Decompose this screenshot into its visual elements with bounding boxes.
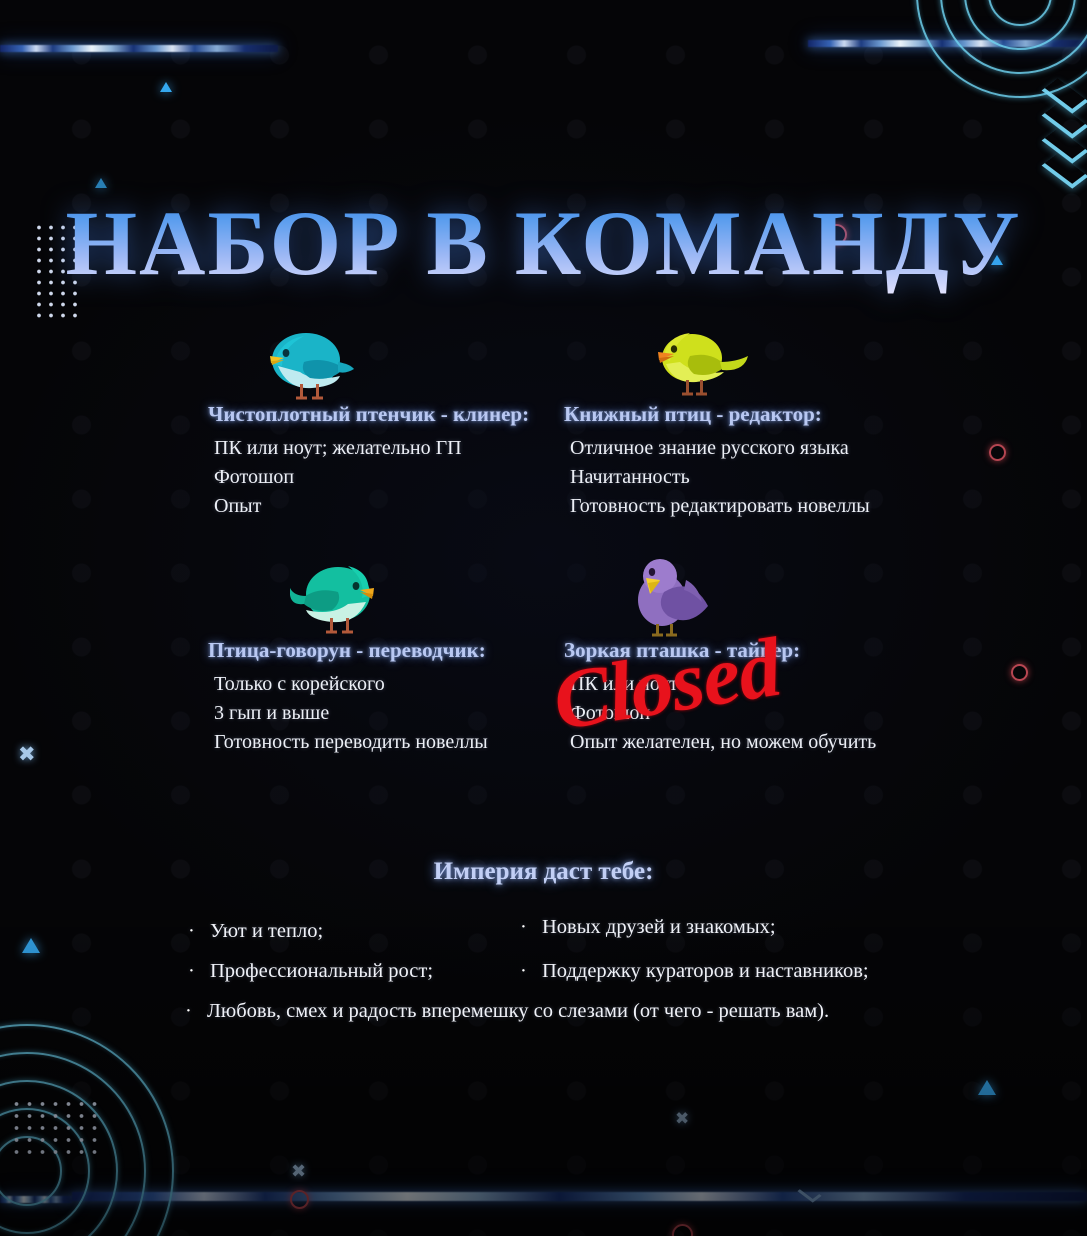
dot-grid-bottom-left: [10, 1098, 102, 1154]
bird-lime-icon: [556, 318, 936, 402]
requirement-item: ПК или ноут: [570, 670, 936, 699]
streak-bottom-main: [72, 1192, 1087, 1201]
job-card-typer[interactable]: Зоркая пташка - тайпер: ПК или ноут Фото…: [556, 554, 936, 757]
requirement-item: Опыт желателен, но можем обучить: [570, 728, 936, 757]
bird-purple-icon: [556, 554, 936, 638]
streak-top-left: [0, 45, 278, 52]
red-circle-icon-4: [290, 1190, 309, 1209]
streak-top-right: [808, 40, 1087, 47]
job-title: Чистоплотный птенчик - клинер:: [208, 402, 580, 427]
benefits-heading: Империя даст тебе:: [0, 858, 1087, 886]
bird-cyan-icon: [200, 318, 580, 402]
bird-teal-icon: [200, 554, 580, 638]
benefit-item: ·Новых друзей и знакомых;: [520, 916, 776, 939]
chevron-down-icon-stack: [1046, 86, 1084, 186]
requirement-item: Начитанность: [570, 463, 936, 492]
requirement-item: Отличное знание русского языка: [570, 434, 936, 463]
x-mark-icon-3: ✖: [291, 1163, 306, 1181]
benefit-label: Поддержку кураторов и наставников;: [542, 960, 869, 982]
job-listings: Чистоплотный птенчик - клинер: ПК или но…: [0, 318, 1087, 790]
job-requirements: Отличное знание русского языка Начитанно…: [556, 434, 936, 521]
job-title: Зоркая пташка - тайпер:: [564, 638, 936, 663]
red-circle-icon-5: [672, 1224, 693, 1236]
bullet-icon: ·: [188, 960, 210, 983]
job-card-cleaner[interactable]: Чистоплотный птенчик - клинер: ПК или но…: [200, 318, 580, 521]
requirement-item: Готовность переводить новеллы: [214, 728, 580, 757]
bullet-icon: ·: [520, 916, 542, 939]
benefit-item: ·Профессиональный рост;: [188, 960, 433, 983]
page-title: НАБОР В КОМАНДУ: [0, 190, 1087, 296]
triangle-icon-5: [978, 1080, 996, 1095]
benefits-row-3: ·Любовь, смех и радость вперемешку со сл…: [0, 1000, 1087, 1040]
chevron-down-icon-small: [797, 1184, 821, 1202]
bullet-icon: ·: [188, 920, 210, 943]
job-requirements: Только с корейского 3 гып и выше Готовно…: [200, 670, 580, 757]
bullet-icon: ·: [185, 1000, 207, 1023]
triangle-icon-1: [160, 82, 172, 92]
concentric-rings-icon: [930, 0, 1087, 84]
job-card-editor[interactable]: Книжный птиц - редактор: Отличное знание…: [556, 318, 936, 521]
benefits-row-1: ·Уют и тепло; ·Новых друзей и знакомых;: [0, 920, 1087, 960]
job-row-top: Чистоплотный птенчик - клинер: ПК или но…: [0, 318, 1087, 554]
benefit-label: Уют и тепло;: [210, 920, 323, 942]
benefit-label: Новых друзей и знакомых;: [542, 916, 776, 938]
job-requirements: ПК или ноут Фотошоп Опыт желателен, но м…: [556, 670, 936, 757]
job-title: Книжный птиц - редактор:: [564, 402, 936, 427]
benefit-item: ·Любовь, смех и радость вперемешку со сл…: [185, 1000, 829, 1023]
benefits-row-2: ·Профессиональный рост; ·Поддержку курат…: [0, 960, 1087, 1000]
requirement-item: Фотошоп: [214, 463, 580, 492]
requirement-item: Только с корейского: [214, 670, 580, 699]
benefit-label: Любовь, смех и радость вперемешку со сле…: [207, 1000, 829, 1022]
poster-canvas: ✖ ✖ ✖ НАБОР В КОМАНДУ: [0, 0, 1087, 1236]
triangle-icon-2: [95, 178, 107, 188]
benefit-label: Профессиональный рост;: [210, 960, 433, 982]
benefit-item: ·Поддержку кураторов и наставников;: [520, 960, 869, 983]
requirement-item: 3 гып и выше: [214, 699, 580, 728]
job-requirements: ПК или ноут; желательно ГП Фотошоп Опыт: [200, 434, 580, 521]
x-mark-icon-2: ✖: [675, 1111, 689, 1128]
benefits-list: ·Уют и тепло; ·Новых друзей и знакомых; …: [0, 920, 1087, 1040]
benefit-item: ·Уют и тепло;: [188, 920, 323, 943]
job-card-translator[interactable]: Птица-говорун - переводчик: Только с кор…: [200, 554, 580, 757]
bullet-icon: ·: [520, 960, 542, 983]
requirement-item: Фотошоп: [570, 699, 936, 728]
concentric-rings-bottom-icon: [0, 1066, 132, 1236]
requirement-item: Опыт: [214, 492, 580, 521]
job-title: Птица-говорун - переводчик:: [208, 638, 580, 663]
requirement-item: ПК или ноут; желательно ГП: [214, 434, 580, 463]
streak-bottom-left: [0, 1196, 72, 1203]
requirement-item: Готовность редактировать новеллы: [570, 492, 936, 521]
job-row-bottom: Птица-говорун - переводчик: Только с кор…: [0, 554, 1087, 790]
